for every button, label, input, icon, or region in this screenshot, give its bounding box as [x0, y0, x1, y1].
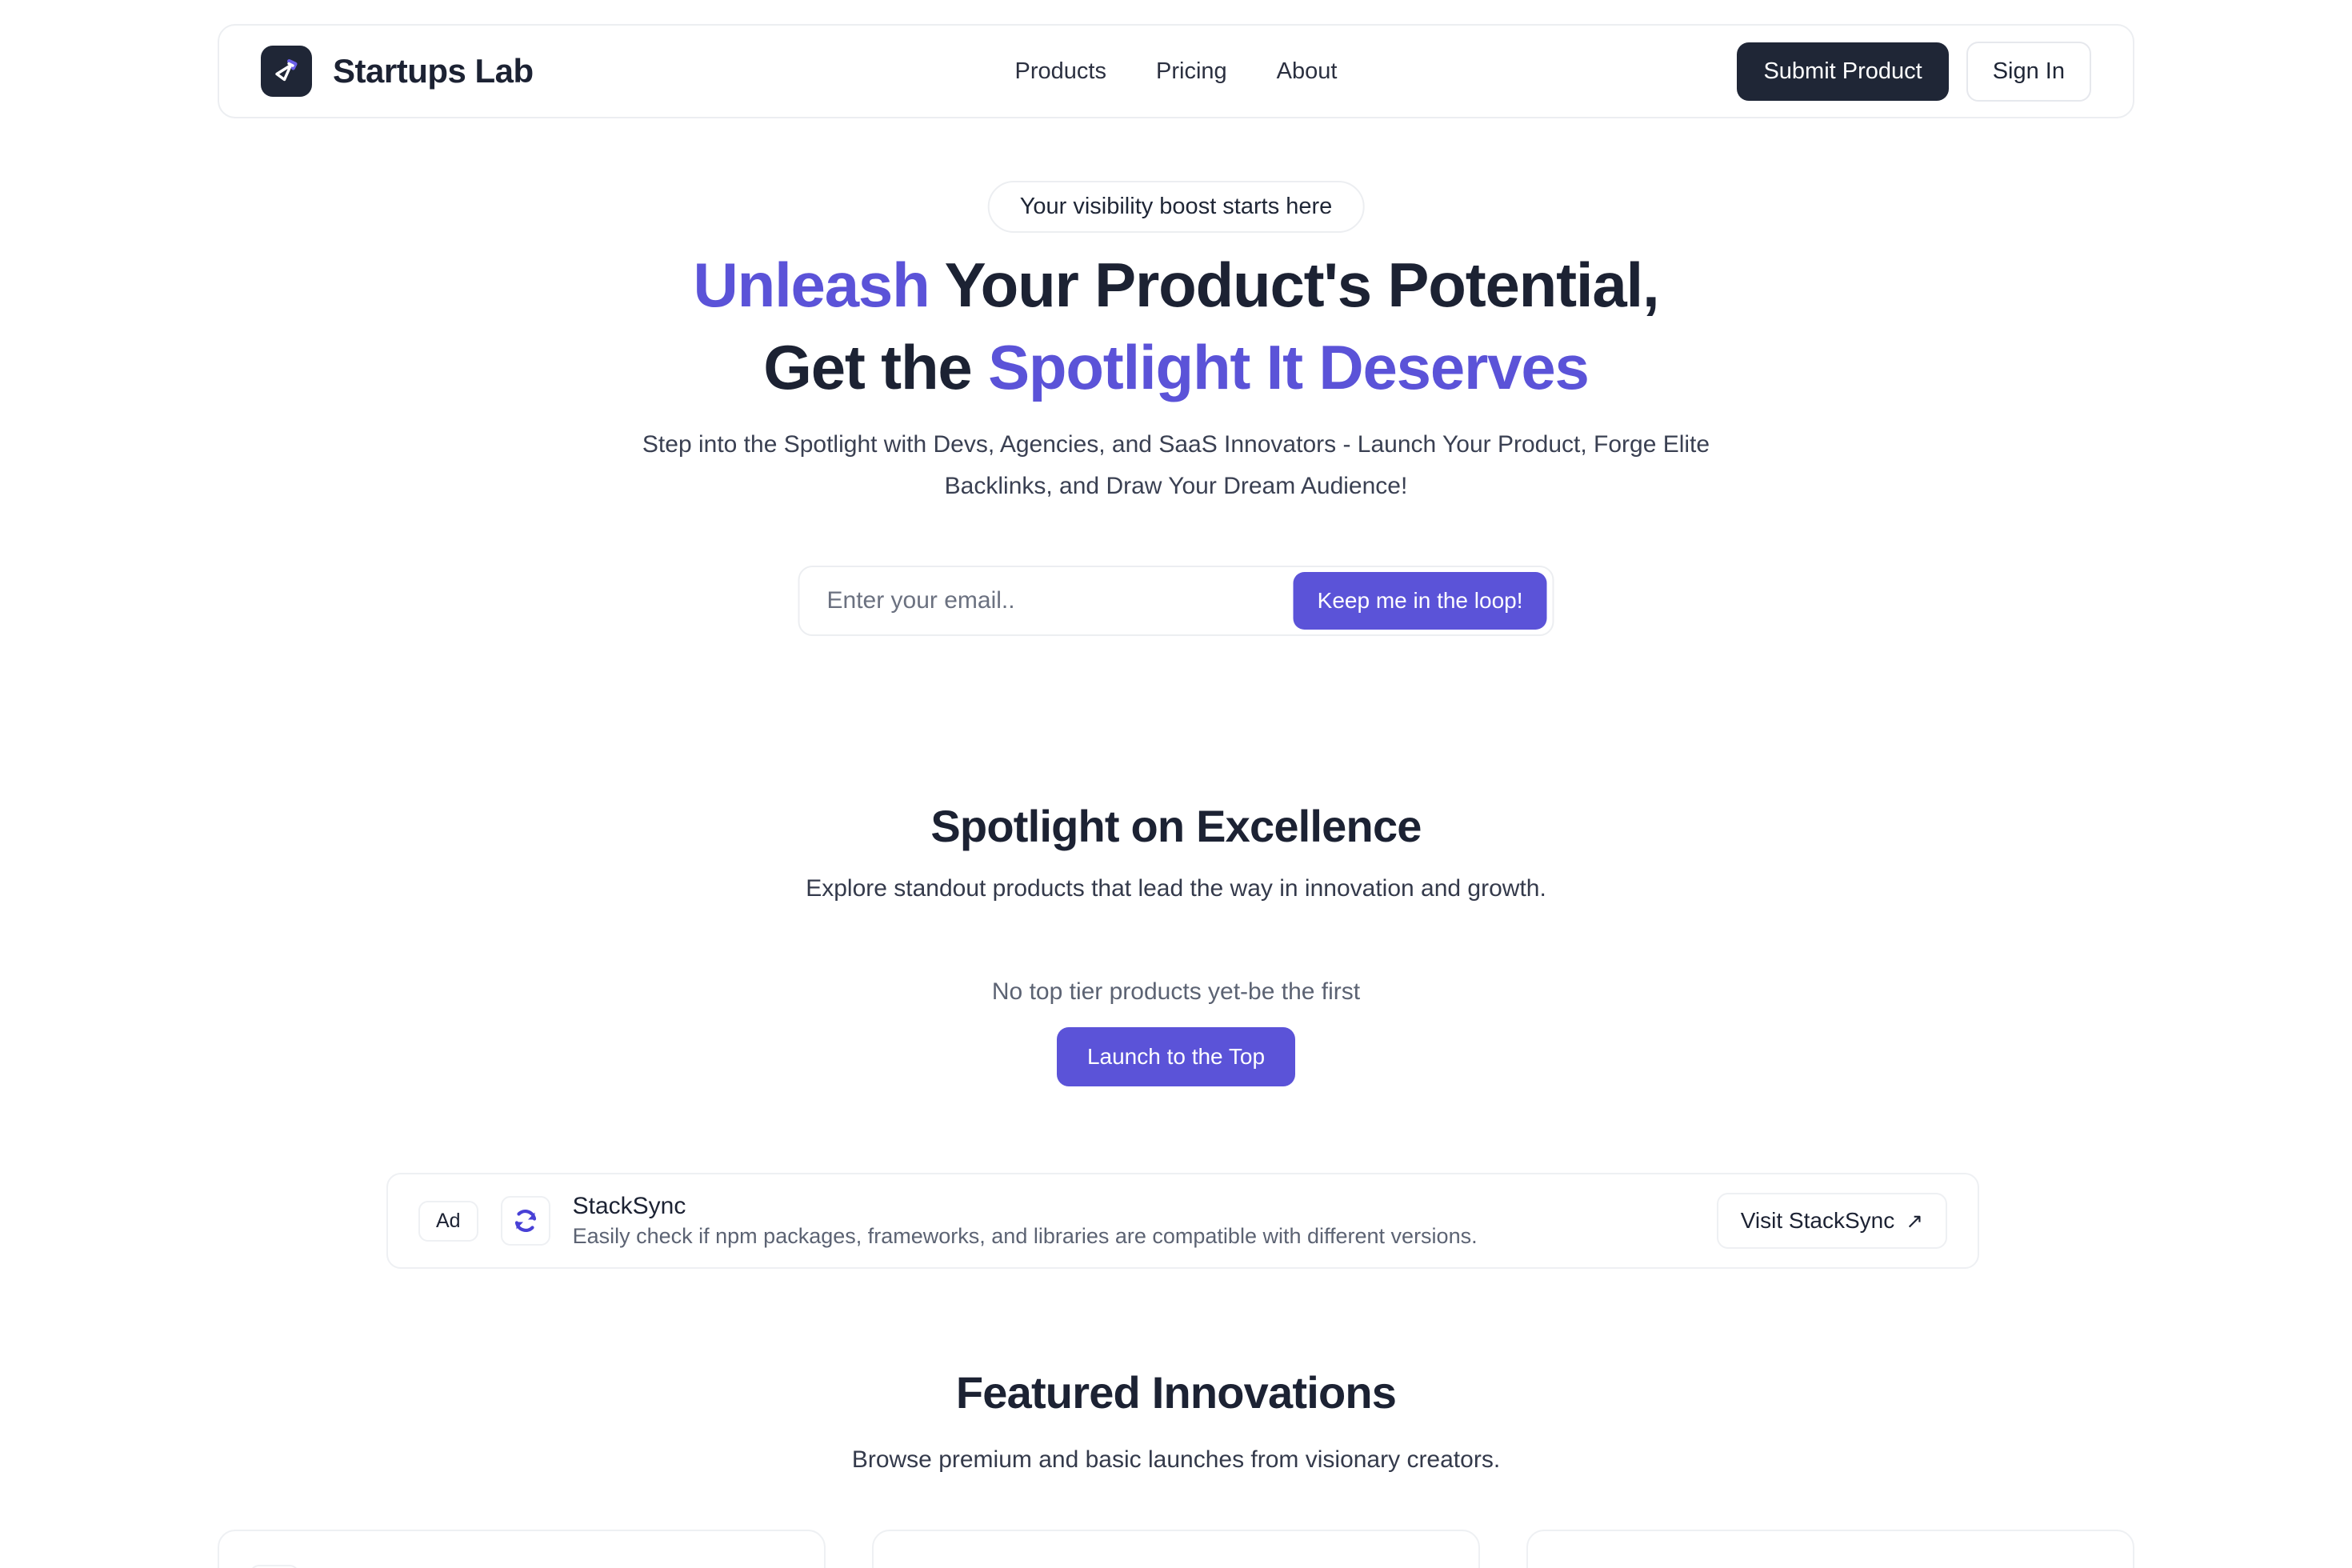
hero-subtitle: Step into the Spotlight with Devs, Agenc…	[616, 424, 1736, 506]
site-header: Startups Lab Products Pricing About Subm…	[218, 24, 2134, 118]
visit-advertiser-label: Visit StackSync	[1741, 1208, 1894, 1234]
keep-me-in-the-loop-button[interactable]: Keep me in the loop!	[1294, 572, 1547, 630]
brand-logo-link[interactable]: Startups Lab	[261, 46, 534, 97]
spotlight-section-title: Spotlight on Excellence	[0, 800, 2352, 852]
submit-product-button[interactable]: Submit Product	[1737, 42, 1948, 101]
nav-item-about[interactable]: About	[1277, 58, 1338, 85]
arrow-up-right-icon: ↗	[1906, 1209, 1923, 1234]
launch-to-the-top-button[interactable]: Launch to the Top	[1057, 1027, 1295, 1086]
spotlight-section-subtitle: Explore standout products that lead the …	[0, 875, 2352, 902]
sign-in-button[interactable]: Sign In	[1966, 42, 2091, 102]
ad-badge: Ad	[418, 1201, 478, 1242]
sync-arrows-icon	[501, 1196, 550, 1246]
featured-section-title: Featured Innovations	[0, 1366, 2352, 1418]
spotlight-cta-wrap: Launch to the Top	[0, 1027, 2352, 1086]
headline-plain-1: Your Product's Potential,	[930, 250, 1659, 320]
featured-section-subtitle: Browse premium and basic launches from v…	[0, 1446, 2352, 1474]
headline-accent-1: Unleash	[694, 250, 930, 320]
hero-badge: Your visibility boost starts here	[988, 181, 1365, 233]
ad-text-block: StackSync Easily check if npm packages, …	[573, 1193, 1478, 1249]
spotlight-empty-state-text: No top tier products yet-be the first	[0, 978, 2352, 1006]
ad-description: Easily check if npm packages, frameworks…	[573, 1224, 1478, 1249]
header-actions: Submit Product Sign In	[1737, 42, 2091, 102]
ad-card[interactable]: Ad StackSync Easily check if npm package…	[386, 1173, 1979, 1269]
headline-plain-2: Get the	[763, 332, 988, 402]
product-thumbnail	[250, 1565, 299, 1568]
list-item[interactable]	[218, 1530, 826, 1568]
featured-cards-row	[218, 1530, 2134, 1568]
brand-name: Startups Lab	[333, 52, 534, 90]
headline-accent-2: Spotlight It Deserves	[988, 332, 1589, 402]
ad-title: StackSync	[573, 1193, 1478, 1220]
email-input[interactable]	[827, 587, 1294, 614]
list-item[interactable]	[1526, 1530, 2134, 1568]
newsletter-form: Keep me in the loop!	[798, 566, 1554, 636]
visit-advertiser-button[interactable]: Visit StackSync ↗	[1717, 1193, 1947, 1249]
list-item[interactable]	[872, 1530, 1480, 1568]
nav-item-products[interactable]: Products	[1015, 58, 1106, 85]
nav-item-pricing[interactable]: Pricing	[1156, 58, 1227, 85]
landing-page: Startups Lab Products Pricing About Subm…	[0, 0, 2352, 1568]
page-title: Unleash Your Product's Potential, Get th…	[0, 244, 2352, 409]
flask-icon	[261, 46, 312, 97]
